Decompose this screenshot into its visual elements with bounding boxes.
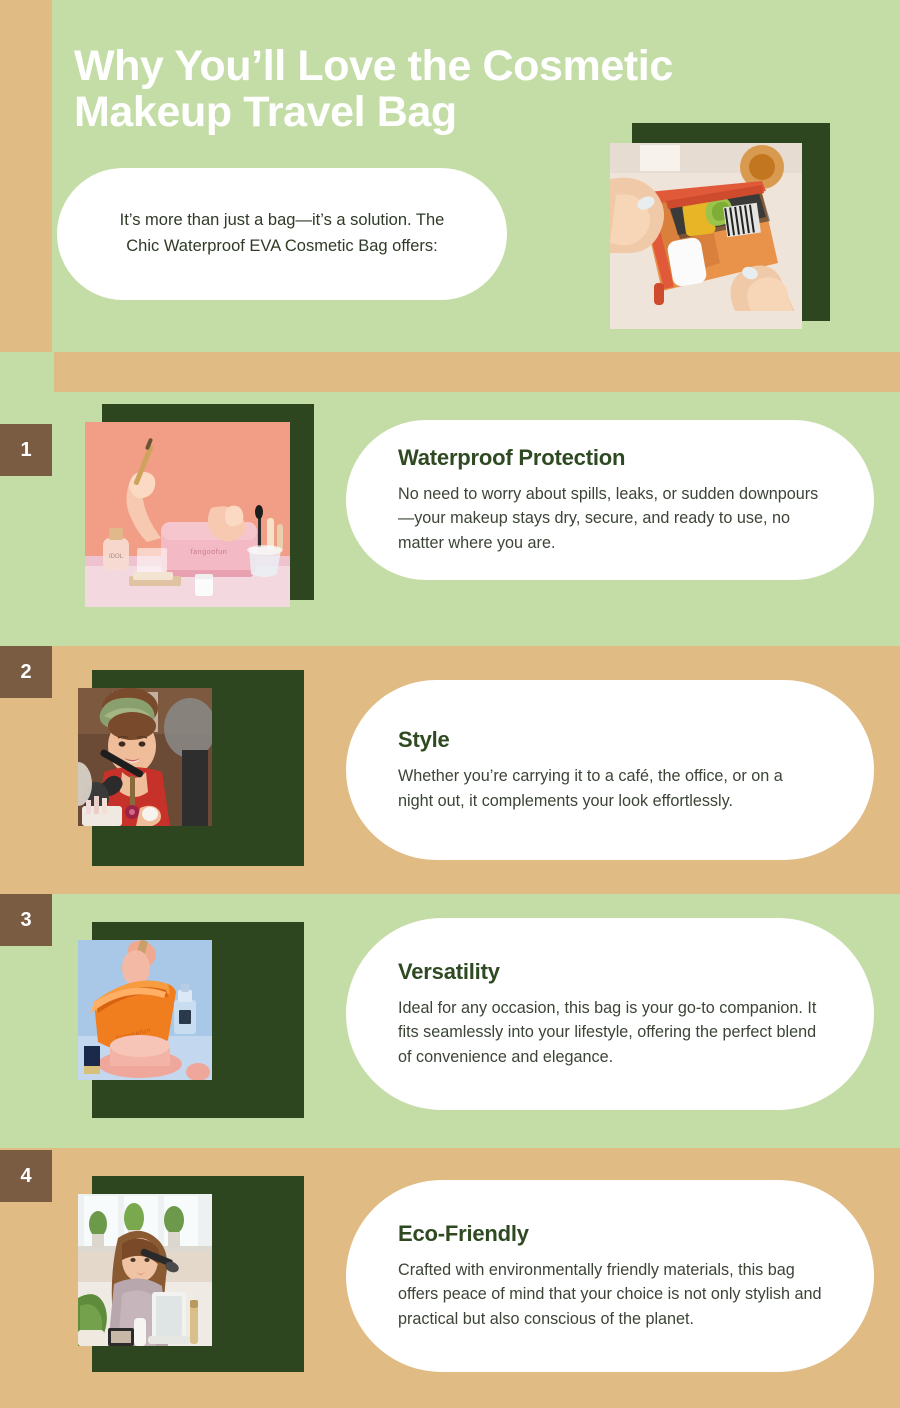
intro-bubble-text: It’s more than just a bag—it’s a solutio… (91, 208, 473, 259)
feature-number-1: 1 (20, 439, 31, 462)
feature-body-2: Whether you’re carrying it to a café, th… (398, 764, 822, 813)
feature-photo-4 (78, 1194, 212, 1346)
feature-number-badge-2: 2 (0, 646, 52, 698)
page-title: Why You’ll Love the Cosmetic Makeup Trav… (74, 44, 814, 135)
feature-number-4: 4 (20, 1165, 31, 1188)
intro-line-1: It’s more than just a bag—it’s a solutio… (120, 211, 445, 229)
feature-photo-3: fangoofun (78, 940, 212, 1080)
feature-photo-1: fangoofun IDOL (85, 422, 290, 607)
intro-bubble: It’s more than just a bag—it’s a solutio… (57, 168, 507, 300)
feature-heading-2: Style (398, 727, 822, 753)
feature-number-badge-1: 1 (0, 424, 52, 476)
feature-card-2: Style Whether you’re carrying it to a ca… (346, 680, 874, 860)
feature-heading-3: Versatility (398, 959, 822, 985)
feature-number-badge-4: 4 (0, 1150, 52, 1202)
feature-number-3: 3 (20, 909, 31, 932)
svg-text:fangoofun: fangoofun (191, 549, 228, 556)
header-photo (610, 143, 802, 329)
feature-photo-3-illustration: fangoofun (78, 940, 212, 1080)
feature-row-3: 3 fangoofun (0, 894, 900, 1148)
feature-card-1: Waterproof Protection No need to worry a… (346, 420, 874, 580)
feature-card-4: Eco-Friendly Crafted with environmentall… (346, 1180, 874, 1372)
header-left-accent-strip (0, 0, 52, 352)
feature-number-2: 2 (20, 661, 31, 684)
feature-photo-4-illustration (78, 1194, 212, 1346)
feature-row-2: 2 (0, 646, 900, 894)
intro-line-2: Chic Waterproof EVA Cosmetic Bag offers: (126, 237, 438, 255)
header-divider-band (54, 352, 900, 392)
infographic-page: Why You’ll Love the Cosmetic Makeup Trav… (0, 0, 900, 1408)
header-photo-illustration (610, 143, 802, 329)
page-title-line-1: Why You’ll Love the Cosmetic (74, 44, 814, 90)
feature-body-3: Ideal for any occasion, this bag is your… (398, 996, 822, 1070)
feature-heading-1: Waterproof Protection (398, 445, 822, 471)
svg-text:IDOL: IDOL (109, 554, 124, 560)
feature-heading-4: Eco-Friendly (398, 1221, 822, 1247)
feature-card-3: Versatility Ideal for any occasion, this… (346, 918, 874, 1110)
feature-photo-2-illustration (78, 688, 212, 826)
feature-number-badge-3: 3 (0, 894, 52, 946)
feature-body-1: No need to worry about spills, leaks, or… (398, 482, 822, 556)
feature-row-1: 1 fangoofun (0, 392, 900, 646)
feature-photo-1-illustration: fangoofun IDOL (85, 422, 290, 607)
feature-body-4: Crafted with environmentally friendly ma… (398, 1258, 822, 1332)
header-section: Why You’ll Love the Cosmetic Makeup Trav… (0, 0, 900, 352)
feature-row-4: 4 (0, 1148, 900, 1408)
feature-photo-2 (78, 688, 212, 826)
